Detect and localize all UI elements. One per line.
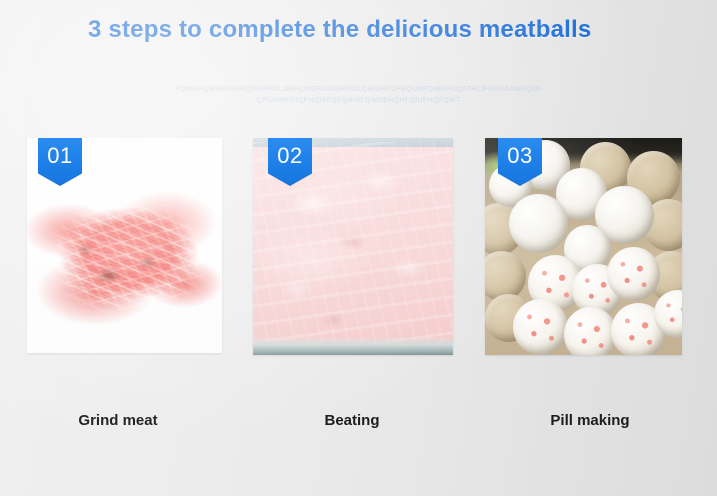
meatball bbox=[564, 307, 617, 355]
meatball bbox=[513, 299, 568, 355]
step-1-caption: Grind meat bbox=[38, 412, 198, 429]
meatball bbox=[607, 247, 660, 301]
glass-plate-edge bbox=[253, 338, 453, 355]
page-background: 3 steps to complete the delicious meatba… bbox=[0, 0, 717, 496]
meatball bbox=[509, 194, 568, 253]
step-2-caption: Beating bbox=[272, 412, 432, 429]
step-3-caption: Pill making bbox=[510, 412, 670, 429]
